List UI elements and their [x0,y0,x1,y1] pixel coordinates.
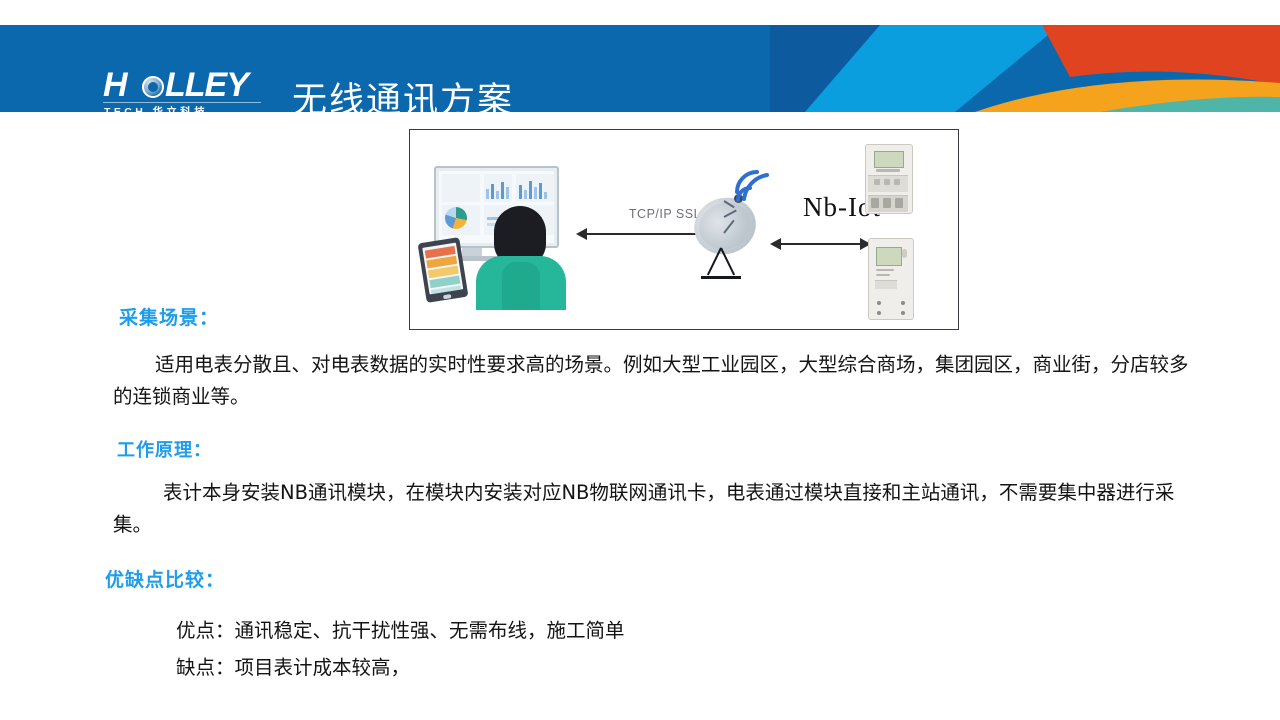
logo-wordmark-after: LLEY [165,67,248,103]
comparison-pros: 优点：通讯稳定、抗干扰性强、无需布线，施工简单 [176,615,625,647]
comparison-cons: 缺点：项目表计成本较高， [176,652,410,684]
page-title: 无线通讯方案 [292,72,514,112]
diagram-panel: TCP/IP SSL [409,129,959,330]
arrow-head-left-start [576,228,587,240]
logo-wordmark: H LLEY [103,67,263,103]
arrow-line-right [780,243,862,245]
logo-divider [103,102,261,103]
pie-chart-widget [445,207,467,229]
slide-root: H LLEY TECH 华立科技 无线通讯方案 [0,0,1280,720]
header-banner: H LLEY TECH 华立科技 无线通讯方案 [0,25,1280,112]
tablet-screen [422,243,463,295]
operator-body [476,256,566,310]
holley-logo: H LLEY TECH 华立科技 [103,67,263,112]
satellite-dish-antenna [690,170,764,282]
logo-wordmark-before: H [103,67,127,103]
holley-ring-icon [142,76,164,98]
section-heading-comparison: 优缺点比较： [105,565,225,592]
dish-base-bar [701,276,741,279]
logo-subtitle: TECH 华立科技 [104,104,264,112]
header-swoosh-decoration [770,25,1280,112]
section-heading-scene: 采集场景： [119,303,219,330]
section-body-scene: 适用电表分散且、对电表数据的实时性要求高的场景。例如大型工业园区，大型综合商场，… [113,349,1205,412]
tablet-home-button [443,294,452,299]
electricity-meter-1 [865,144,913,214]
arrow-head-right-start [770,238,781,250]
section-heading-principle: 工作原理： [117,436,212,462]
electricity-meter-2 [868,238,914,320]
section-body-principle: 表计本身安装NB通讯模块，在模块内安装对应NB物联网通讯卡，电表通过模块直接和主… [113,477,1211,540]
wifi-signal-icon [734,170,774,204]
